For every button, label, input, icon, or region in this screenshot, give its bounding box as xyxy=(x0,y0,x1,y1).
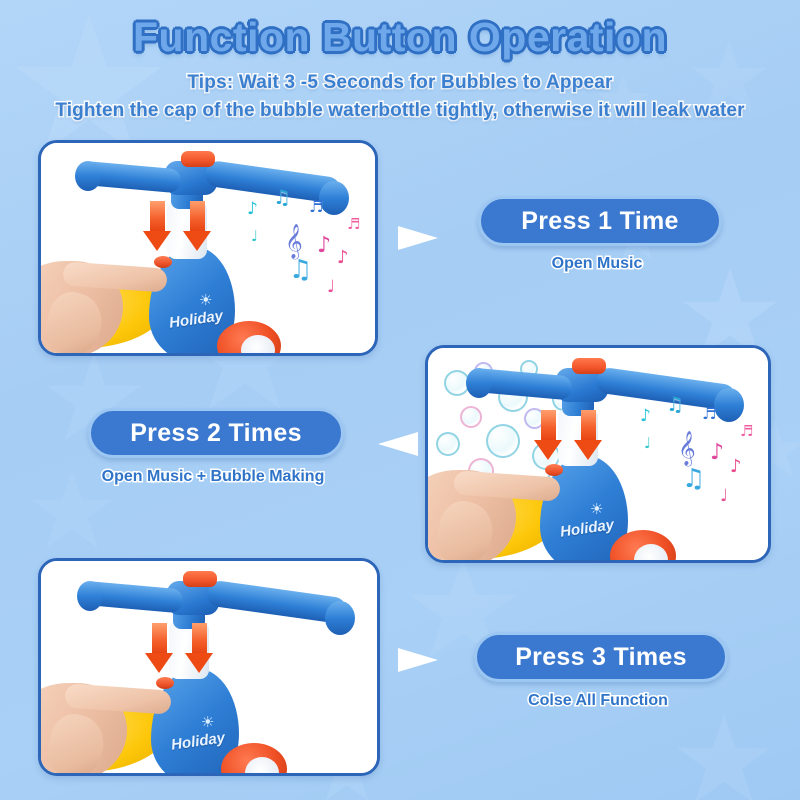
music-note: ♪ xyxy=(730,458,742,476)
grip-left xyxy=(466,368,492,398)
music-note: ♪ xyxy=(710,442,724,464)
music-note: ♬ xyxy=(309,199,323,215)
product-photo-3: ☀ Holiday xyxy=(41,561,377,773)
bubble-bottle-cap xyxy=(572,358,606,374)
music-note: ♪ xyxy=(640,408,651,425)
music-note: ♬ xyxy=(347,217,360,232)
product-photo-1: ☀ Holiday ♪ ♫ ♬ ♩ 𝄞 ♪ ♫ ♪ xyxy=(41,143,375,353)
music-note: ♩ xyxy=(720,488,728,505)
music-note: ♫ xyxy=(682,466,705,492)
badge-press-2-times[interactable]: Press 2 Times xyxy=(88,408,344,458)
music-note: ♫ xyxy=(666,394,684,414)
infographic-page: Function Button Operation Tips: Wait 3 -… xyxy=(0,0,800,800)
music-note: 𝄞 xyxy=(285,227,303,257)
step-photo-card-3: ☀ Holiday xyxy=(38,558,380,776)
connector-arrow-3 xyxy=(398,648,438,672)
tip-line-2: Tighten the cap of the bubble waterbottl… xyxy=(0,94,800,122)
star-decoration xyxy=(676,714,772,800)
header: Function Button Operation Tips: Wait 3 -… xyxy=(0,0,800,122)
badge-press-3-times[interactable]: Press 3 Times xyxy=(474,632,728,682)
grip-right xyxy=(714,388,744,422)
function-button[interactable] xyxy=(545,464,563,476)
music-note: ♬ xyxy=(702,406,716,422)
music-note: ♬ xyxy=(740,424,753,439)
function-button[interactable] xyxy=(156,677,174,689)
music-note: ♩ xyxy=(644,436,651,451)
music-note: ♩ xyxy=(327,279,335,296)
music-note: ♫ xyxy=(273,187,291,207)
grip-right xyxy=(325,601,355,635)
sun-icon: ☀ xyxy=(201,715,214,730)
step-photo-card-2: ☀ Holiday ♪ ♫ ♬ ♩ 𝄞 ♪ ♫ ♪ ♩ ♬ xyxy=(425,345,771,563)
music-note: ♫ xyxy=(289,257,312,283)
sun-icon: ☀ xyxy=(199,293,212,308)
grip-left xyxy=(77,581,103,611)
step-photo-card-1: ☀ Holiday ♪ ♫ ♬ ♩ 𝄞 ♪ ♫ ♪ xyxy=(38,140,378,356)
product-photo-2: ☀ Holiday ♪ ♫ ♬ ♩ 𝄞 ♪ ♫ ♪ ♩ ♬ xyxy=(428,348,768,560)
caption-step-3: Colse All Function xyxy=(474,692,722,710)
music-note: ♪ xyxy=(247,201,258,218)
connector-arrow-2 xyxy=(378,432,418,456)
music-note: 𝄞 xyxy=(678,434,696,464)
function-button[interactable] xyxy=(154,256,172,268)
caption-step-1: Open Music xyxy=(478,255,716,273)
caption-step-2: Open Music + Bubble Making xyxy=(58,468,368,486)
music-note: ♩ xyxy=(251,229,258,244)
grip-right xyxy=(319,181,349,215)
sun-icon: ☀ xyxy=(590,502,603,517)
page-title: Function Button Operation xyxy=(0,0,800,61)
music-note: ♪ xyxy=(337,249,349,267)
bubble-bottle-cap xyxy=(181,151,215,167)
music-note: ♪ xyxy=(317,235,331,257)
tip-line-1: Tips: Wait 3 -5 Seconds for Bubbles to A… xyxy=(0,61,800,94)
grip-left xyxy=(75,161,101,191)
bubble-bottle-cap xyxy=(183,571,217,587)
badge-press-1-time[interactable]: Press 1 Time xyxy=(478,196,722,246)
connector-arrow-1 xyxy=(398,226,438,250)
